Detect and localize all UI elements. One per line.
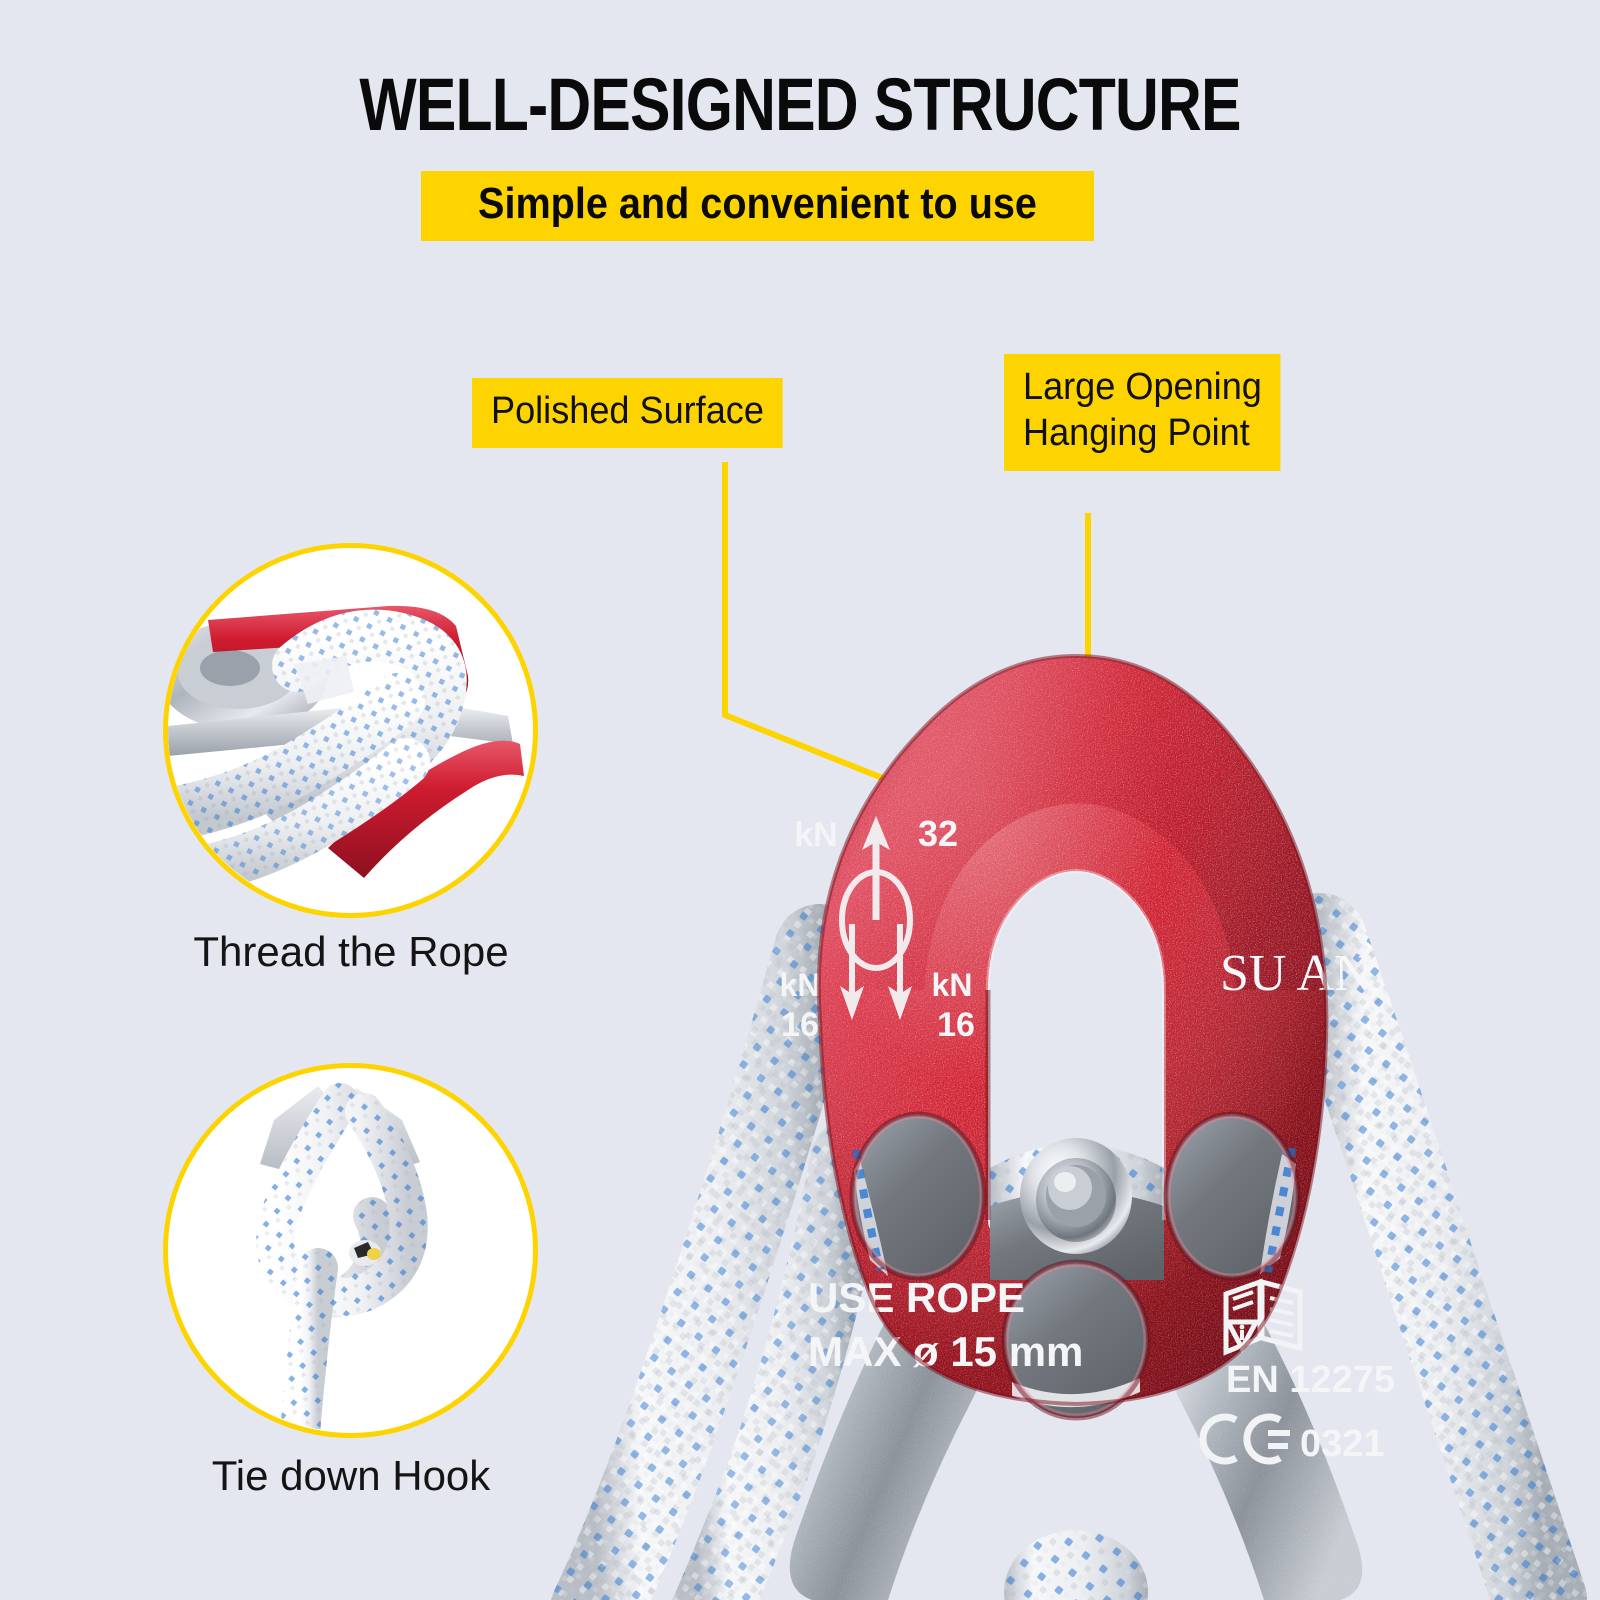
brand-engraving: SU AN [1220,945,1372,1002]
detail-circle-tie-down-hook [163,1063,538,1438]
body-hole-right [1166,1114,1298,1278]
center-rivet [1020,1138,1132,1254]
lower-sheave [1004,1530,1148,1600]
detail-circle-thread-the-rope [163,543,538,918]
product-photo-pulley: kN 32 kN 16 kN 16 SU AN USE ROPE MAX ø 1… [520,520,1600,1600]
ce-number: 0321 [1300,1423,1385,1465]
rope-spec-line1: USE ROPE [808,1274,1025,1321]
rope-right-strand [1320,940,1540,1600]
standard-marking: EN 12275 [1226,1359,1395,1401]
load-top-unit: kN [794,816,837,854]
thread-the-rope-photo [168,548,533,913]
rope-spec-line2: MAX ø 15 mm [808,1328,1083,1375]
body-hole-left [852,1114,984,1278]
tie-down-hook-photo [168,1068,533,1433]
load-right-value: 16 [937,1006,975,1044]
load-left-unit: kN [780,967,821,1003]
load-top-value: 32 [918,813,958,854]
load-left-value: 16 [781,1006,819,1044]
load-right-unit: kN [932,967,973,1003]
